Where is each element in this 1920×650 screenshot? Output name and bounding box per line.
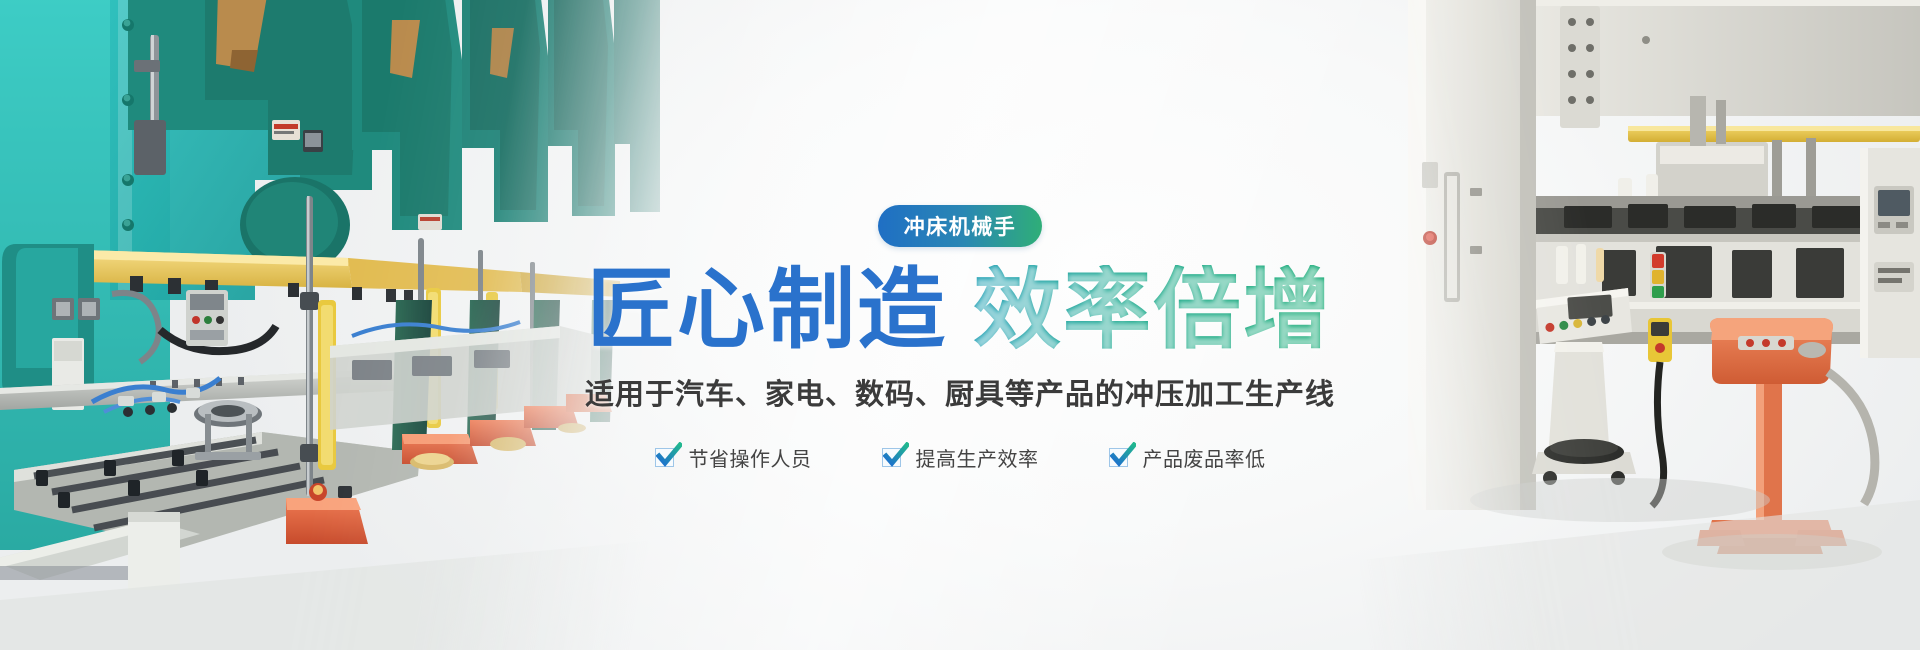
checkbox-checked-icon: [655, 446, 677, 468]
checkbox-checked-icon: [882, 446, 904, 468]
list-item: 产品废品率低: [1109, 443, 1266, 472]
feature-list: 节省操作人员 提高生产效率: [655, 443, 1266, 472]
banner-copy: 冲床机械手 匠心制造 效率倍增 适用于汽车、家电、数码、厨具等产品的冲压加工生产…: [0, 0, 1920, 650]
feature-label: 产品废品率低: [1143, 443, 1266, 472]
headline-part-1: 匠心制造: [587, 265, 947, 355]
page-title: 匠心制造 效率倍增: [587, 265, 1333, 355]
feature-label: 提高生产效率: [916, 443, 1039, 472]
headline-part-2: 效率倍增: [973, 265, 1333, 355]
hero-banner: 冲床机械手 匠心制造 效率倍增 适用于汽车、家电、数码、厨具等产品的冲压加工生产…: [0, 0, 1920, 650]
page-subtitle: 适用于汽车、家电、数码、厨具等产品的冲压加工生产线: [585, 371, 1335, 413]
list-item: 提高生产效率: [882, 443, 1039, 472]
list-item: 节省操作人员: [655, 443, 812, 472]
feature-label: 节省操作人员: [689, 443, 812, 472]
checkbox-checked-icon: [1109, 446, 1131, 468]
category-badge: 冲床机械手: [878, 205, 1043, 247]
